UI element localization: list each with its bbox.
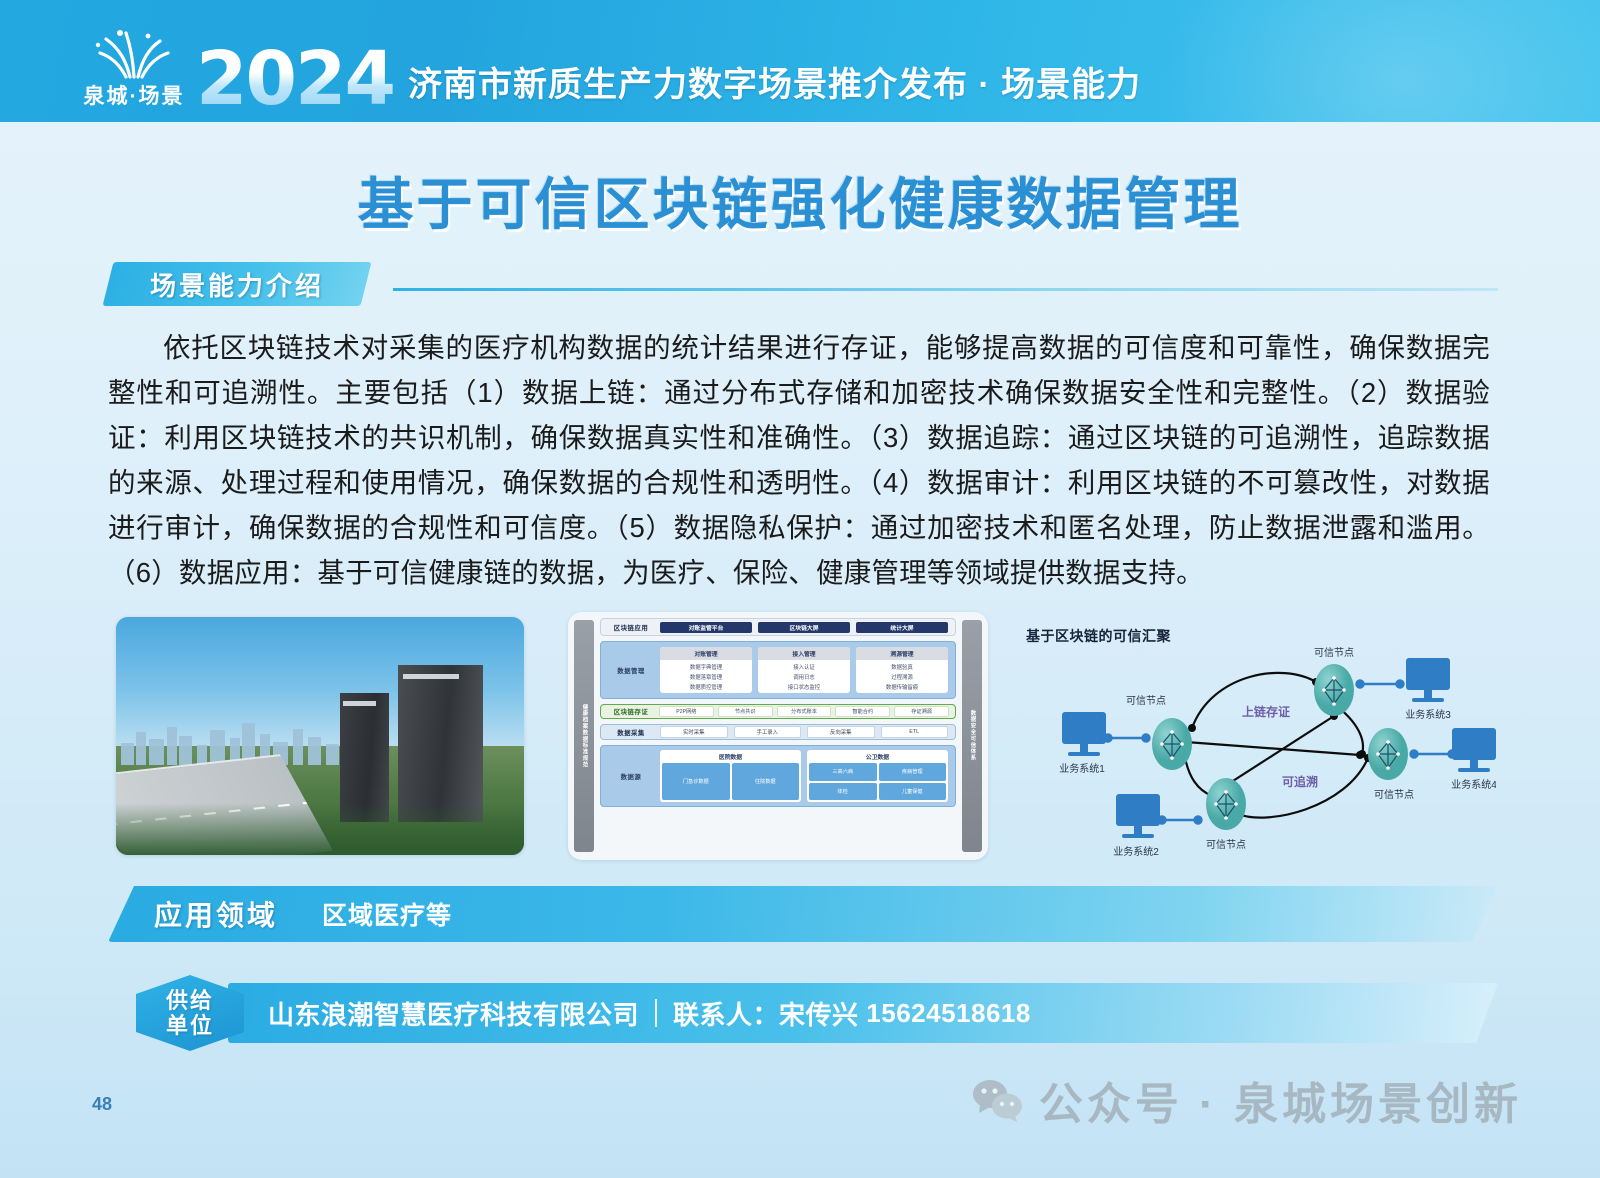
arch-side-left-label: 健康档案数据标准规范 [574, 620, 594, 852]
arch-source-group: 公卫数据 三高六病 疾病管理 体检 儿童保健 [807, 750, 948, 802]
arch-app-chip: 对账监管平台 [660, 622, 752, 633]
arch-group-header: 溯源管理 [856, 647, 948, 660]
network-system-label: 业务系统4 [1451, 778, 1496, 791]
application-field-label: 应用领域 [154, 886, 278, 942]
network-annotation-traceable: 可追溯 [1282, 774, 1318, 789]
supplier-divider [655, 999, 657, 1027]
arch-group-header: 接入管理 [758, 647, 850, 660]
photo-tower-right [398, 665, 484, 822]
arch-group-item: 接入认证 [793, 663, 815, 671]
page-title: 基于可信区块链强化健康数据管理 [0, 160, 1600, 241]
watermark-text: 公众号 · 泉城场景创新 [1039, 1068, 1522, 1132]
slide-page: 泉城·场景 2024 济南市新质生产力数字场景推介发布 · 场景能力 基于可信区… [0, 0, 1600, 1178]
arch-group: 对账管理 数据字典管理 数据落章管理 数据质控管理 [660, 647, 752, 693]
brand-logo: 泉城·场景 [78, 27, 190, 122]
photo-greenery [116, 803, 524, 855]
arch-layer-title: 数据采集 [605, 728, 657, 737]
network-system-label: 业务系统3 [1405, 708, 1451, 721]
supplier-company: 山东浪潮智慧医疗科技有限公司 [268, 995, 639, 1032]
arch-app-chip: 统计大屏 [856, 622, 948, 633]
arch-group-item: 调用日志 [793, 673, 815, 681]
arch-layer-blockchain-app: 区块链应用 对账监管平台 区块链大屏 统计大屏 [600, 618, 956, 636]
network-annotation-onchain: 上链存证 [1242, 704, 1290, 719]
network-node-label: 可信节点 [1126, 695, 1166, 707]
network-node-label: 可信节点 [1314, 647, 1354, 659]
intro-badge-label: 场景能力介绍 [108, 262, 366, 306]
supplier-contact-phone: 15624518618 [866, 998, 1031, 1029]
year-badge: 2024 [196, 42, 394, 116]
arch-group-item: 数据质控管理 [690, 683, 722, 691]
arch-group-item: 过程溯源 [891, 673, 913, 681]
architecture-diagram: 健康档案数据标准规范 数据安全可信体系 区块链应用 对账监管平台 区块链大屏 统… [568, 612, 988, 860]
media-row: 健康档案数据标准规范 数据安全可信体系 区块链应用 对账监管平台 区块链大屏 统… [116, 612, 1496, 860]
blockchain-network-diagram: 基于区块链的可信汇聚 [1016, 612, 1496, 860]
arch-layer-title: 数据源 [605, 750, 657, 802]
arch-chain-cell: 分布式账本 [777, 706, 832, 717]
arch-group-item: 数据落章管理 [690, 673, 722, 681]
arch-layer-data-collection: 数据采集 实时采集 手工录入 反向采集 ETL [600, 724, 956, 740]
network-node-label: 可信节点 [1374, 789, 1414, 801]
arch-source-item: 体检 [809, 783, 877, 801]
arch-layer-data-source: 数据源 医院数据 门急诊数据 住院数据 公卫数据 三高六病 疾病管理 [600, 745, 956, 807]
photo-skyline [116, 712, 369, 764]
arch-chain-cell: P2P网络 [659, 706, 714, 717]
arch-collect-cell: 手工录入 [734, 726, 802, 738]
arch-source-group: 医院数据 门急诊数据 住院数据 [660, 750, 801, 802]
arch-layer-data-management: 数据管理 对账管理 数据字典管理 数据落章管理 数据质控管理 接入管理 接入认证 [600, 641, 956, 699]
network-system-label: 业务系统2 [1113, 845, 1159, 858]
arch-layer-blockchain-evidence: 区块链存证 P2P网络 节点共识 分布式账本 智能合约 存证溯源 [600, 704, 956, 719]
arch-group-header: 对账管理 [660, 647, 752, 660]
supplier-badge-line1: 供给 [166, 988, 214, 1013]
application-field-bg [108, 886, 1498, 942]
arch-group-item: 数据传输留痕 [886, 683, 918, 691]
supplier-bar: 供给 单位 山东浪潮智慧医疗科技有限公司 联系人： 宋传兴 1562451861… [108, 975, 1498, 1051]
arch-app-chip: 区块链大屏 [758, 622, 850, 633]
logo-text: 泉城·场景 [84, 80, 185, 110]
arch-group-item: 数据字典管理 [690, 663, 722, 671]
arch-layer-title: 数据管理 [605, 647, 657, 693]
arch-source-item: 疾病管理 [879, 763, 947, 781]
application-field-bar: 应用领域 区域医疗等 [108, 886, 1498, 942]
arch-source-item: 住院数据 [732, 763, 800, 800]
arch-source-item: 门急诊数据 [662, 763, 730, 800]
page-header: 泉城·场景 2024 济南市新质生产力数字场景推介发布 · 场景能力 [0, 0, 1600, 122]
supplier-text: 山东浪潮智慧医疗科技有限公司 联系人： 宋传兴 15624518618 [268, 983, 1031, 1043]
page-number: 48 [92, 1094, 112, 1115]
arch-side-right-label: 数据安全可信体系 [962, 620, 982, 852]
intro-divider-line [393, 288, 1498, 291]
arch-group: 接入管理 接入认证 调用日志 接口状态监控 [758, 647, 850, 693]
arch-layer-title: 区块链应用 [605, 623, 657, 632]
wechat-watermark: 公众号 · 泉城场景创新 [969, 1068, 1522, 1132]
supplier-contact-name: 宋传兴 [779, 995, 859, 1032]
wechat-icon [969, 1077, 1025, 1123]
arch-chain-cell: 节点共识 [718, 706, 773, 717]
network-graph: 可信节点 可信节点 可信节点 可信节点 业务系统1 业务系统2 业务系统3 业务… [1016, 612, 1496, 860]
arch-group: 溯源管理 数据验真 过程溯源 数据传输留痕 [856, 647, 948, 693]
arch-collect-cell: 实时采集 [660, 726, 728, 738]
arch-chain-cell: 智能合约 [835, 706, 890, 717]
application-field-value: 区域医疗等 [322, 886, 452, 942]
supplier-badge-line2: 单位 [166, 1013, 214, 1038]
arch-source-header: 公卫数据 [809, 752, 946, 763]
arch-chain-cell: 存证溯源 [894, 706, 949, 717]
arch-source-header: 医院数据 [662, 752, 799, 763]
network-node-label: 可信节点 [1206, 839, 1246, 851]
spring-water-icon [86, 27, 182, 79]
network-system-label: 业务系统1 [1059, 762, 1105, 775]
arch-group-item: 接口状态监控 [788, 683, 820, 691]
intro-paragraph: 依托区块链技术对采集的医疗机构数据的统计结果进行存证，能够提高数据的可信度和可靠… [108, 325, 1490, 595]
arch-collect-cell: ETL [881, 726, 949, 738]
arch-collect-cell: 反向采集 [807, 726, 875, 738]
supplier-badge: 供给 单位 [136, 975, 244, 1051]
city-photo [116, 617, 524, 855]
supplier-contact-label: 联系人： [673, 995, 779, 1032]
arch-layer-title: 区块链存证 [605, 707, 657, 716]
intro-section-header: 场景能力介绍 [108, 262, 1498, 306]
arch-source-item: 儿童保健 [879, 783, 947, 801]
arch-source-item: 三高六病 [809, 763, 877, 781]
arch-group-item: 数据验真 [891, 663, 913, 671]
header-title: 济南市新质生产力数字场景推介发布 · 场景能力 [408, 57, 1141, 106]
